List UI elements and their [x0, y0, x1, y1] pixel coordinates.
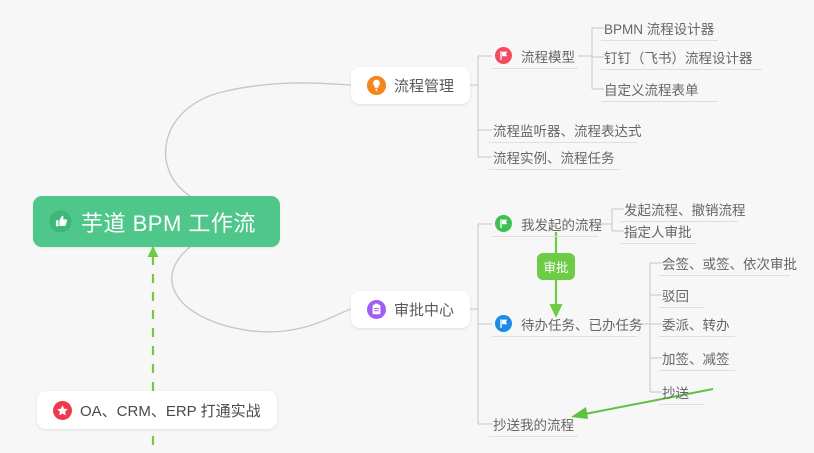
leaf-bpmn-designer[interactable]: BPMN 流程设计器 [601, 15, 718, 41]
leaf-label: 发起流程、撤销流程 [624, 199, 746, 219]
leaf-carbon-copy[interactable]: 抄送 [659, 379, 704, 405]
node-label: 流程模型 [521, 46, 575, 66]
leaf-reject[interactable]: 驳回 [659, 282, 704, 308]
mindmap-canvas: 芋道 BPM 工作流 流程管理 流程模型 流程监听器、流程表达式 流程实例、流 [0, 0, 814, 453]
leaf-dingtalk-designer[interactable]: 钉钉（飞书）流程设计器 [601, 44, 762, 70]
branch-node-approval-center[interactable]: 审批中心 [351, 291, 470, 328]
branch-node-process-management[interactable]: 流程管理 [351, 67, 470, 104]
leaf-label: 加签、减签 [662, 348, 730, 368]
node-label: 抄送我的流程 [493, 414, 574, 434]
leaf-label: 指定人审批 [624, 221, 692, 241]
node-cc-to-me[interactable]: 抄送我的流程 [489, 411, 578, 437]
leaf-label: 委派、转办 [662, 314, 730, 334]
node-process-model[interactable]: 流程模型 [492, 43, 578, 69]
leaf-custom-form[interactable]: 自定义流程表单 [601, 76, 718, 102]
note-label: OA、CRM、ERP 打通实战 [80, 400, 261, 421]
node-label: 流程实例、流程任务 [493, 147, 615, 167]
root-label: 芋道 BPM 工作流 [81, 206, 256, 238]
node-label: 流程监听器、流程表达式 [493, 120, 642, 140]
node-label: 待办任务、已办任务 [521, 314, 643, 334]
leaf-label: 会签、或签、依次审批 [662, 253, 797, 273]
leaf-label: 钉钉（飞书）流程设计器 [604, 47, 753, 67]
wire-root-to-branch2 [172, 247, 351, 332]
leaf-label: 抄送 [662, 382, 689, 402]
note-node-integration[interactable]: OA、CRM、ERP 打通实战 [37, 391, 277, 429]
clipboard-icon [367, 300, 386, 319]
root-node[interactable]: 芋道 BPM 工作流 [33, 196, 280, 247]
leaf-add-remove-sign[interactable]: 加签、减签 [659, 345, 735, 371]
star-badge-icon [53, 401, 72, 420]
lightbulb-icon [367, 76, 386, 95]
node-process-listener[interactable]: 流程监听器、流程表达式 [489, 117, 637, 143]
branch-label: 流程管理 [394, 75, 454, 96]
flag-icon [494, 314, 513, 333]
flag-icon [494, 214, 513, 233]
thumbs-up-icon [49, 210, 72, 233]
leaf-label: 自定义流程表单 [604, 79, 699, 99]
wire-root-to-branch1 [166, 83, 351, 196]
node-process-instance[interactable]: 流程实例、流程任务 [489, 144, 620, 170]
leaf-label: 驳回 [662, 285, 689, 305]
node-label: 我发起的流程 [521, 214, 602, 234]
leaf-signature-modes[interactable]: 会签、或签、依次审批 [659, 250, 790, 276]
annotation-chip-approval: 审批 [537, 253, 575, 280]
annotation-chip-label: 审批 [543, 257, 568, 276]
branch-label: 审批中心 [394, 299, 454, 320]
leaf-label: BPMN 流程设计器 [604, 18, 714, 38]
leaf-delegate-transfer[interactable]: 委派、转办 [659, 311, 735, 337]
node-todo-done-tasks[interactable]: 待办任务、已办任务 [492, 311, 637, 337]
flag-icon [494, 46, 513, 65]
node-my-initiated[interactable]: 我发起的流程 [492, 211, 598, 237]
leaf-assignee-approval[interactable]: 指定人审批 [621, 218, 696, 244]
